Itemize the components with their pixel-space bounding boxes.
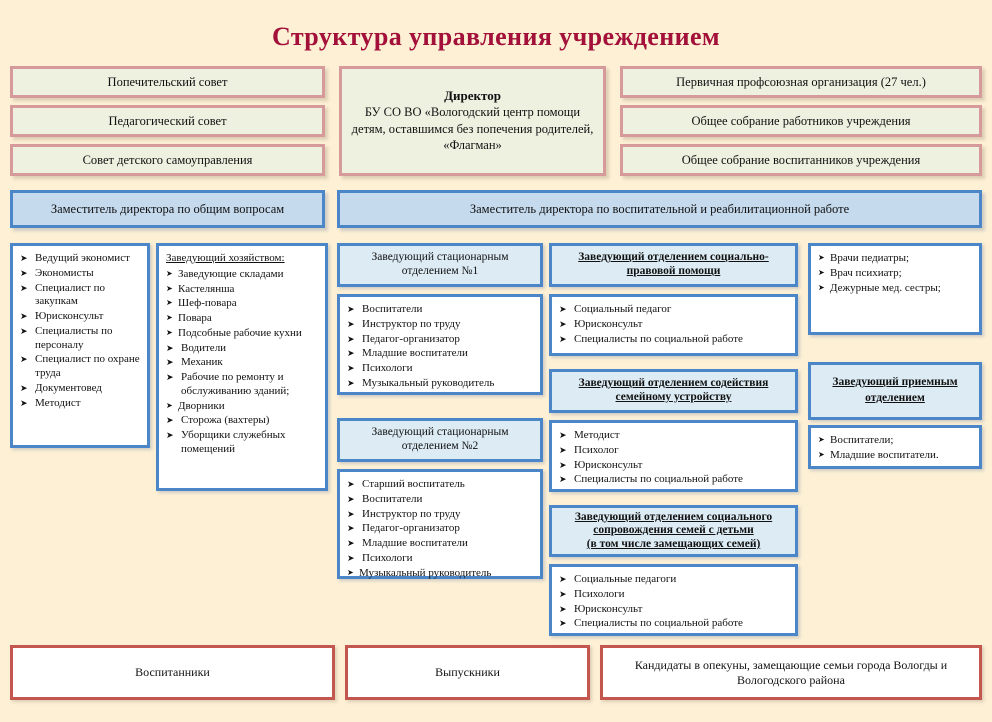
family-placement-list-box[interactable]: Методист Психолог Юрисконсульт Специалис… [549,420,798,492]
list-item: Специалисты по социальной работе [559,617,790,631]
list-item: Шеф-повара [166,297,320,311]
list-item: Дежурные мед. сестры; [818,282,974,296]
list-item: Юрисконсульт [559,459,790,473]
board-box-pedagogical[interactable]: Педагогический совет [10,105,325,137]
social-support-list: Социальные педагоги Психологи Юрисконсул… [559,573,790,631]
board-box-staff-assembly[interactable]: Общее собрание работников учреждения [620,105,982,137]
family-placement-list: Методист Психолог Юрисконсульт Специалис… [559,429,790,487]
social-support-list-box[interactable]: Социальные педагоги Психологи Юрисконсул… [549,564,798,636]
list-item: Дворники [166,400,320,414]
stationary-dept2-header[interactable]: Заведующий стационарным отделением №2 [337,418,543,462]
org-chart-canvas: Структура управления учреждением Попечит… [0,0,992,722]
list-item: Методист [559,429,790,443]
list-item: Юрисконсульт [559,318,790,332]
list-item: Воспитатели [347,303,535,317]
list-item: Специалист по закупкам [20,282,142,310]
list-item: Повара [166,312,320,326]
list-item: Юрисконсульт [559,603,790,617]
list-item: Врач психиатр; [818,267,974,281]
list-item: Рабочие по ремонту и обслуживанию зданий… [166,371,320,399]
list-item: Младшие воспитатели [347,347,535,361]
list-item: Инструктор по труду [347,508,535,522]
list-item: Ведущий экономист [20,252,142,266]
list-item: Механик [166,356,320,370]
list-item: Психолог [559,444,790,458]
board-box-pupils-assembly[interactable]: Общее собрание воспитанников учреждения [620,144,982,176]
social-legal-list: Социальный педагог Юрисконсульт Специали… [559,303,790,346]
list-item: Специалисты по социальной работе [559,333,790,347]
household-list: Заведующие складами Кастелянша Шеф-повар… [166,268,320,457]
list-item: Психологи [559,588,790,602]
bottom-box-pupils[interactable]: Воспитанники [10,645,335,700]
social-support-header[interactable]: Заведующий отделением социального сопров… [549,505,798,557]
list-item: Экономисты [20,267,142,281]
board-box-trustee[interactable]: Попечительский совет [10,66,325,98]
list-item: Музыкальный руководитель [347,377,535,391]
page-title: Структура управления учреждением [0,22,992,52]
list-item: Уборщики служебных помещений [166,429,320,457]
admission-dept-list: Воспитатели; Младшие воспитатели. [818,434,974,463]
list-item: Сторожа (вахтеры) [166,414,320,428]
social-legal-header[interactable]: Заведующий отделением социально-правовой… [549,243,798,287]
household-caption: Заведующий хозяйством: [166,252,320,266]
stationary-dept1-list: Воспитатели Инструктор по труду Педагог-… [347,303,535,391]
board-box-children-self-government[interactable]: Совет детского самоуправления [10,144,325,176]
general-staff-list-box[interactable]: Ведущий экономист Экономисты Специалист … [10,243,150,448]
stationary-dept1-list-box[interactable]: Воспитатели Инструктор по труду Педагог-… [337,294,543,395]
social-legal-list-box[interactable]: Социальный педагог Юрисконсульт Специали… [549,294,798,356]
admission-dept-header[interactable]: Заведующий приемным отделением [808,362,982,420]
bottom-box-graduates[interactable]: Выпускники [345,645,590,700]
household-list-box[interactable]: Заведующий хозяйством: Заведующие склада… [156,243,328,491]
list-item: Младшие воспитатели [347,537,535,551]
list-item: Водители [166,342,320,356]
stationary-dept2-list-box[interactable]: Старший воспитатель Воспитатели Инструкт… [337,469,543,579]
list-item: Социальный педагог [559,303,790,317]
list-item: Психологи [347,552,535,566]
list-item: Старший воспитатель [347,478,535,492]
deputy-general-header[interactable]: Заместитель директора по общим вопросам [10,190,325,228]
medical-staff-list: Врачи педиатры; Врач психиатр; Дежурные … [818,252,974,295]
list-item: Заведующие складами [166,268,320,282]
general-staff-list: Ведущий экономист Экономисты Специалист … [20,252,142,410]
deputy-educational-header[interactable]: Заместитель директора по воспитательной … [337,190,982,228]
list-item: Воспитатели [347,493,535,507]
director-role: Директор [444,88,501,103]
director-box[interactable]: Директор БУ СО ВО «Вологодский центр пом… [339,66,606,176]
list-item: Младшие воспитатели. [818,449,974,463]
list-item: Методист [20,397,142,411]
list-item: Подсобные рабочие кухни [166,327,320,341]
board-box-trade-union[interactable]: Первичная профсоюзная организация (27 че… [620,66,982,98]
list-item: Врачи педиатры; [818,252,974,266]
list-item: Инструктор по труду [347,318,535,332]
bottom-box-guardian-candidates[interactable]: Кандидаты в опекуны, замещающие семьи го… [600,645,982,700]
list-item: Музыкальный руководитель [347,567,535,581]
list-item: Юрисконсульт [20,310,142,324]
list-item: Психологи [347,362,535,376]
stationary-dept1-header[interactable]: Заведующий стационарным отделением №1 [337,243,543,287]
admission-dept-list-box[interactable]: Воспитатели; Младшие воспитатели. [808,425,982,469]
family-placement-header[interactable]: Заведующий отделением содействия семейно… [549,369,798,413]
director-org: БУ СО ВО «Вологодский центр помощи детям… [350,104,595,154]
list-item: Педагог-организатор [347,522,535,536]
list-item: Социальные педагоги [559,573,790,587]
list-item: Воспитатели; [818,434,974,448]
stationary-dept2-list: Старший воспитатель Воспитатели Инструкт… [347,478,535,580]
list-item: Специалисты по социальной работе [559,473,790,487]
medical-staff-list-box[interactable]: Врачи педиатры; Врач психиатр; Дежурные … [808,243,982,335]
list-item: Педагог-организатор [347,333,535,347]
list-item: Документовед [20,382,142,396]
list-item: Кастелянша [166,283,320,297]
list-item: Специалисты по персоналу [20,325,142,353]
list-item: Специалист по охране труда [20,353,142,381]
